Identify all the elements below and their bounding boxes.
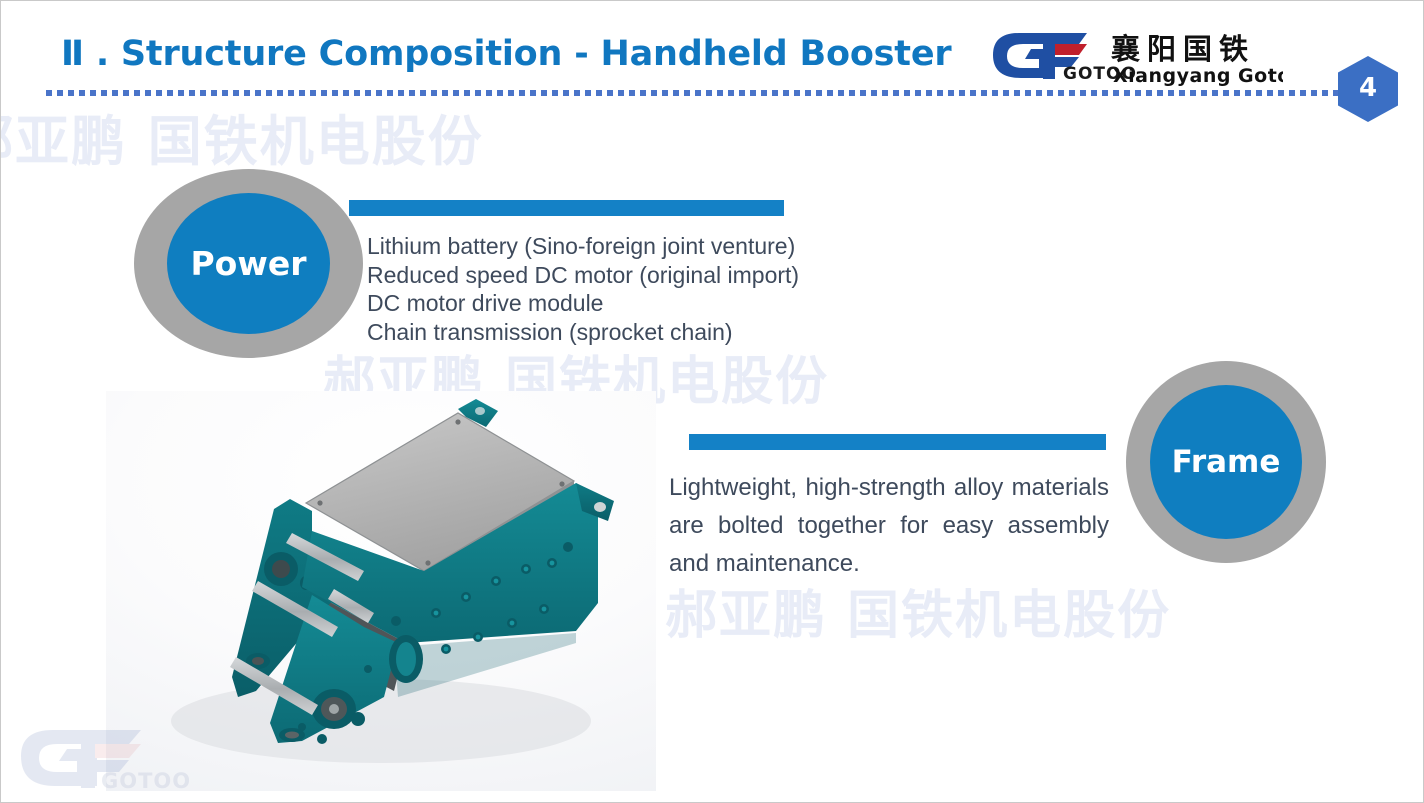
svg-text:Xiangyang Gotoo: Xiangyang Gotoo: [1113, 65, 1283, 87]
frame-accent-bar: [689, 434, 1106, 450]
title-divider-dotted-line: [46, 90, 1378, 96]
svg-text:襄阳国铁: 襄阳国铁: [1111, 32, 1255, 66]
watermark-text: 郝亚鹏 国铁机电股份: [665, 573, 1171, 648]
power-description-line: DC motor drive module: [367, 289, 887, 318]
power-accent-bar: [349, 200, 784, 216]
power-description-line: Chain transmission (sprocket chain): [367, 318, 887, 347]
power-badge-inner-circle: Power: [167, 193, 330, 334]
frame-description-paragraph: Lightweight, high-strength alloy materia…: [669, 469, 1109, 583]
power-description-line: Reduced speed DC motor (original import): [367, 261, 887, 290]
frame-badge-label: Frame: [1172, 444, 1281, 480]
frame-badge: Frame: [1126, 361, 1326, 563]
frame-badge-inner-circle: Frame: [1150, 385, 1302, 539]
power-description-line: Lithium battery (Sino-foreign joint vent…: [367, 232, 887, 261]
page-number-label: 4: [1338, 56, 1398, 122]
slide-title: Ⅱ . Structure Composition - Handheld Boo…: [61, 34, 951, 74]
product-render-image: [106, 391, 656, 791]
power-description-list: Lithium battery (Sino-foreign joint vent…: [367, 232, 887, 346]
power-badge: Power: [134, 169, 363, 358]
presentation-slide: 郝亚鹏 国铁机电股份 郝亚鹏 国铁机电股份 郝亚鹏 国铁机电股份 Ⅱ . Str…: [0, 0, 1424, 803]
company-logo: GOTOO 襄阳国铁 Xiangyang Gotoo: [983, 25, 1283, 87]
page-number-badge: 4: [1338, 56, 1398, 122]
watermark-text: 郝亚鹏 国铁机电股份: [0, 97, 484, 176]
power-badge-label: Power: [191, 244, 307, 283]
